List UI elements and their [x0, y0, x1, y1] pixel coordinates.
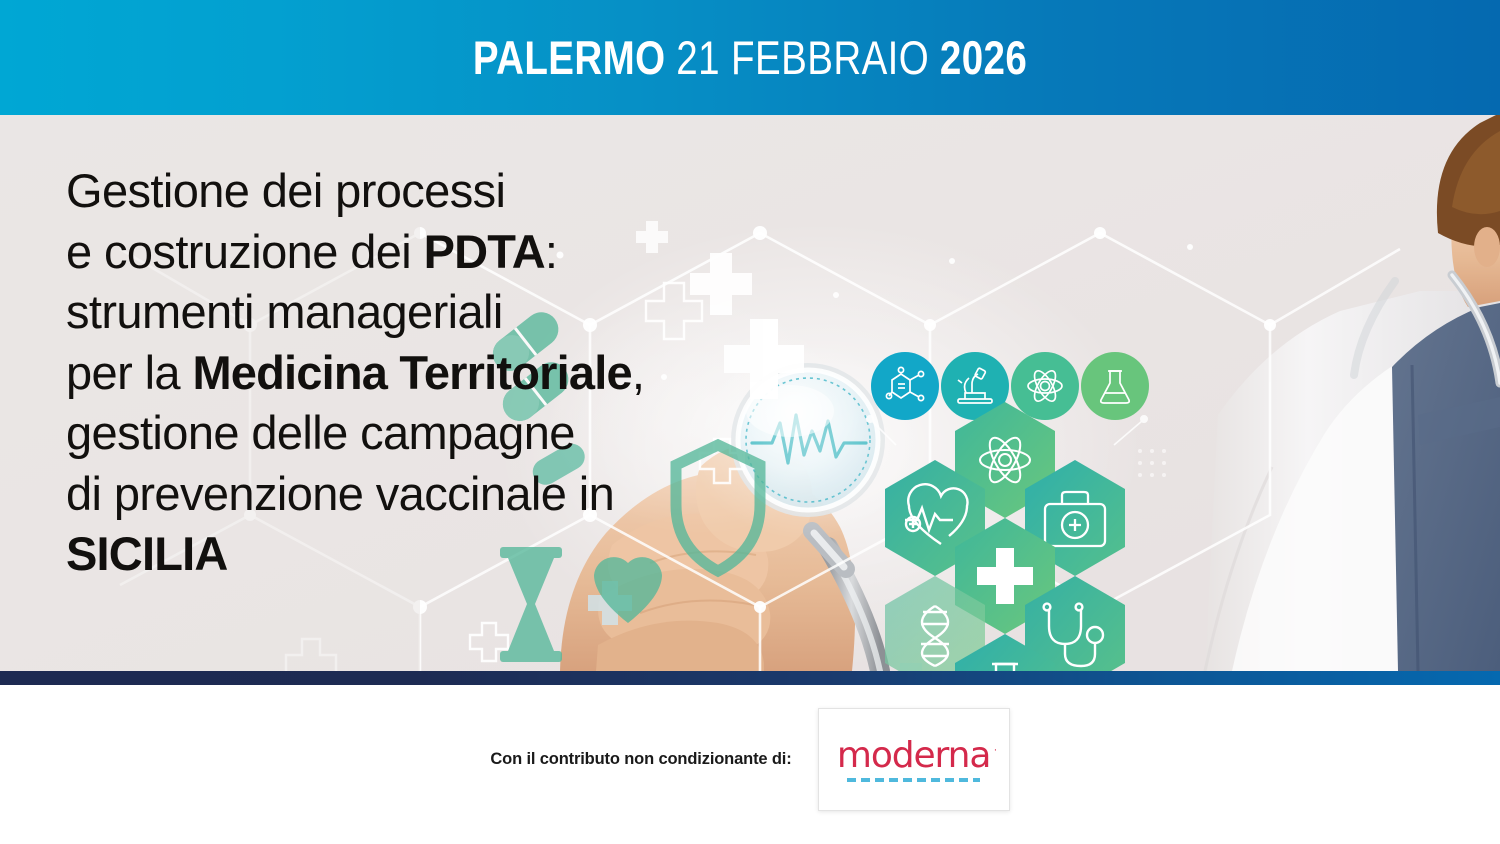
footer: Con il contributo non condizionante di: … [0, 685, 1500, 844]
sponsor-note: Con il contributo non condizionante di: [490, 750, 791, 769]
date-banner-text: PALERMO21 FEBBRAIO2026 [473, 34, 1027, 81]
banner-date: 21 FEBBRAIO [676, 31, 929, 84]
atom-icon [1011, 352, 1079, 420]
moderna-registered-mark: · [994, 744, 998, 756]
title-line-4: per la Medicina Territoriale, [66, 343, 766, 404]
title-line-2: e costruzione dei PDTA: [66, 222, 766, 283]
moderna-dash-underline [847, 778, 980, 782]
dot-grid [1138, 449, 1166, 477]
title-line-2-tail: : [545, 225, 557, 278]
flask-icon [1081, 352, 1149, 420]
doctor-photo [1205, 115, 1500, 671]
title-line-1: Gestione dei processi [66, 161, 766, 222]
date-banner: PALERMO21 FEBBRAIO2026 [0, 0, 1500, 115]
title-line-5-text: gestione delle campagne [66, 406, 575, 459]
sponsor-logo-card: moderna · [818, 708, 1010, 811]
title-line-7: SICILIA [66, 524, 766, 585]
title-keyword-medicina-territoriale: Medicina Territoriale [192, 346, 631, 399]
sponsor-row: Con il contributo non condizionante di: … [490, 708, 1009, 811]
moderna-wordmark: moderna [837, 735, 990, 776]
title-keyword-pdta: PDTA [424, 225, 545, 278]
molecule-icon [871, 352, 939, 420]
title-line-1-text: Gestione dei processi [66, 164, 505, 217]
title-line-3-text: strumenti manageriali [66, 285, 503, 338]
title-line-4-tail: , [632, 346, 644, 399]
title-line-5: gestione delle campagne [66, 403, 766, 464]
title-line-6-text: di prevenzione vaccinale in [66, 467, 614, 520]
banner-city: PALERMO [473, 31, 666, 84]
section-divider [0, 671, 1500, 685]
event-poster: PALERMO21 FEBBRAIO2026 [0, 0, 1500, 844]
title-line-6: di prevenzione vaccinale in [66, 464, 766, 525]
title-line-4-text: per la [66, 346, 192, 399]
page-title: Gestione dei processi e costruzione dei … [66, 161, 766, 585]
hero-section: Gestione dei processi e costruzione dei … [0, 115, 1500, 671]
title-line-2-text: e costruzione dei [66, 225, 424, 278]
title-line-3: strumenti manageriali [66, 282, 766, 343]
banner-year: 2026 [940, 31, 1027, 84]
moderna-logo: moderna · [837, 738, 990, 774]
title-keyword-sicilia: SICILIA [66, 527, 228, 580]
